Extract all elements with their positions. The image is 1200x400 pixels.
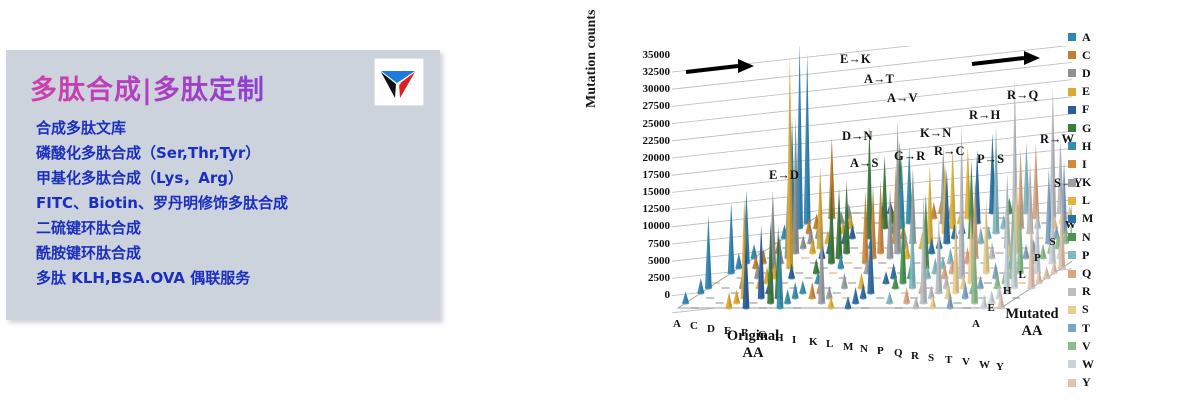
legend-item-V[interactable]: V (1068, 337, 1128, 355)
legend-item-D[interactable]: D (1068, 64, 1128, 82)
legend-item-Y[interactable]: Y (1068, 374, 1128, 392)
list-item: 磷酸化多肽合成（Ser,Thr,Tyr） (36, 141, 432, 166)
legend-label: H (1082, 139, 1091, 154)
legend-swatch-icon (1068, 124, 1076, 132)
legend-swatch-icon (1068, 179, 1076, 187)
y-tick-label: 5000 (648, 256, 670, 266)
legend-label: K (1082, 175, 1091, 190)
legend-swatch-icon (1068, 51, 1076, 59)
y-tick-label: 27500 (643, 101, 671, 111)
legend-item-W[interactable]: W (1068, 355, 1128, 373)
list-item: 多肽 KLH,BSA.OVA 偶联服务 (36, 266, 432, 291)
y-tick-label: 30000 (643, 84, 671, 94)
y-tick-label: 15000 (643, 187, 671, 197)
legend-label: I (1082, 157, 1087, 172)
legend-item-L[interactable]: L (1068, 192, 1128, 210)
y-tick-label: 0 (665, 290, 671, 300)
legend-label: F (1082, 102, 1089, 117)
legend-label: Q (1082, 266, 1091, 281)
legend-label: C (1082, 48, 1091, 63)
legend-item-R[interactable]: R (1068, 283, 1128, 301)
list-item: 酰胺键环肽合成 (36, 241, 432, 266)
legend-label: R (1082, 284, 1091, 299)
legend-item-I[interactable]: I (1068, 155, 1128, 173)
y-tick-label: 17500 (643, 170, 671, 180)
legend-item-C[interactable]: C (1068, 46, 1128, 64)
legend-swatch-icon (1068, 324, 1076, 332)
company-logo (374, 58, 424, 106)
y-tick-label: 10000 (643, 221, 671, 231)
z-tick-H: H (1003, 285, 1012, 297)
legend-item-F[interactable]: F (1068, 101, 1128, 119)
y-tick-label: 2500 (648, 273, 670, 283)
promo-service-list: 合成多肽文库 磷酸化多肽合成（Ser,Thr,Tyr） 甲基化多肽合成（Lys，… (36, 116, 432, 291)
legend-item-H[interactable]: H (1068, 137, 1128, 155)
legend-swatch-icon (1068, 160, 1076, 168)
list-item: 甲基化多肽合成（Lys，Arg） (36, 166, 432, 191)
legend-swatch-icon (1068, 270, 1076, 278)
legend-swatch-icon (1068, 342, 1076, 350)
legend-item-M[interactable]: M (1068, 210, 1128, 228)
list-item: 二硫键环肽合成 (36, 216, 432, 241)
legend-label: L (1082, 193, 1090, 208)
legend-swatch-icon (1068, 142, 1076, 150)
legend-label: P (1082, 248, 1089, 263)
legend-label: N (1082, 230, 1091, 245)
y-tick-label: 25000 (643, 119, 671, 129)
legend-item-K[interactable]: K (1068, 174, 1128, 192)
y-tick-label: 20000 (643, 153, 671, 163)
z-tick-L: L (1019, 269, 1026, 281)
legend-label: T (1082, 321, 1090, 336)
legend-swatch-icon (1068, 251, 1076, 259)
y-axis-ticks: 3500032500300002750025000225002000017500… (604, 50, 670, 300)
chart-legend: ACDEFGHIKLMNPQRSTVWY (1068, 28, 1128, 392)
z-axis-title: Mutated AA (982, 306, 1082, 340)
y-axis-title: Mutation counts (584, 10, 600, 108)
legend-label: M (1082, 211, 1093, 226)
x-axis-title: Original AA (698, 328, 808, 362)
legend-label: A (1082, 30, 1091, 45)
z-tick-A: A (972, 318, 980, 330)
legend-swatch-icon (1068, 69, 1076, 77)
y-tick-label: 22500 (643, 136, 671, 146)
legend-item-P[interactable]: P (1068, 246, 1128, 264)
y-tick-label: 32500 (643, 67, 671, 77)
promo-panel: 多肽合成|多肽定制 合成多肽文库 磷酸化多肽合成（Ser,Thr,Tyr） 甲基… (6, 50, 440, 320)
legend-item-N[interactable]: N (1068, 228, 1128, 246)
legend-item-S[interactable]: S (1068, 301, 1128, 319)
legend-label: V (1082, 339, 1091, 354)
legend-label: S (1082, 302, 1089, 317)
y-tick-label: 7500 (648, 239, 670, 249)
legend-swatch-icon (1068, 288, 1076, 296)
legend-swatch-icon (1068, 379, 1076, 387)
legend-label: E (1082, 84, 1090, 99)
legend-item-G[interactable]: G (1068, 119, 1128, 137)
legend-swatch-icon (1068, 360, 1076, 368)
legend-swatch-icon (1068, 33, 1076, 41)
list-item: 合成多肽文库 (36, 116, 432, 141)
legend-swatch-icon (1068, 106, 1076, 114)
legend-item-Q[interactable]: Q (1068, 264, 1128, 282)
promo-title: 多肽合成|多肽定制 (30, 68, 265, 107)
y-tick-label: 35000 (643, 50, 671, 60)
legend-swatch-icon (1068, 197, 1076, 205)
z-tick-P: P (1034, 252, 1041, 264)
legend-label: D (1082, 66, 1091, 81)
legend-item-A[interactable]: A (1068, 28, 1128, 46)
legend-item-E[interactable]: E (1068, 83, 1128, 101)
legend-swatch-icon (1068, 306, 1076, 314)
legend-swatch-icon (1068, 88, 1076, 96)
legend-label: Y (1082, 375, 1091, 390)
z-tick-S: S (1050, 236, 1056, 248)
legend-item-T[interactable]: T (1068, 319, 1128, 337)
y-tick-label: 12500 (643, 204, 671, 214)
legend-swatch-icon (1068, 215, 1076, 223)
legend-swatch-icon (1068, 233, 1076, 241)
legend-label: W (1082, 357, 1094, 372)
list-item: FITC、Biotin、罗丹明修饰多肽合成 (36, 191, 432, 216)
legend-label: G (1082, 121, 1091, 136)
